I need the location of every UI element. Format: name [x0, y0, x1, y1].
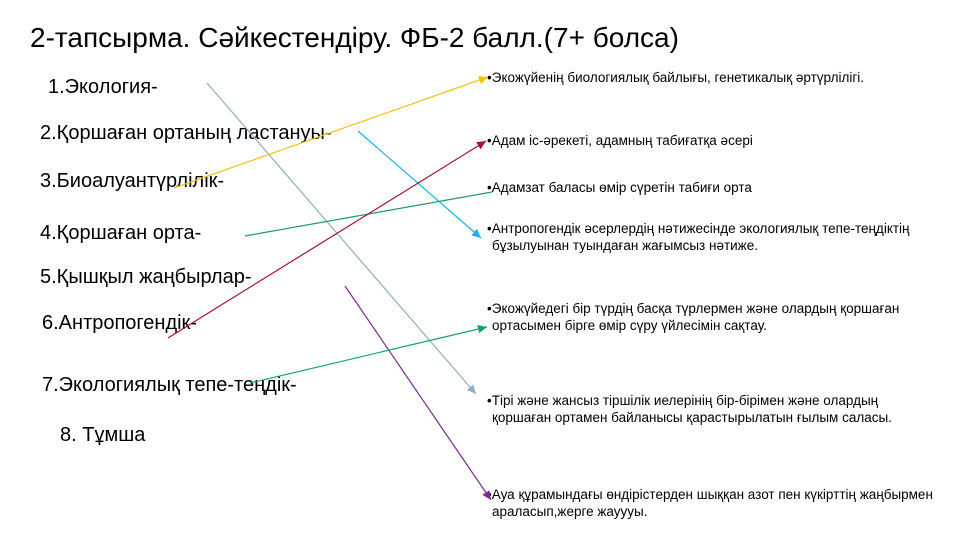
term-item-2[interactable]: 2.Қоршаған ортаның ластануы- [40, 122, 332, 144]
right-definitions-column: •Экожүйенің биологиялық байлығы, генетик… [487, 0, 957, 540]
definition-item-E[interactable]: •Экожүйедегі бір түрдің басқа түрлермен … [487, 301, 940, 335]
term-item-6[interactable]: 6.Антропогендік- [42, 312, 197, 334]
definition-text: Экожүйенің биологиялық байлығы, генетика… [492, 70, 864, 85]
definition-text: Адамзат баласы өмір сүретін табиғи орта [492, 180, 752, 195]
definition-text: Тірі және жансыз тіршілік иелерінің бір-… [492, 393, 892, 425]
term-item-4[interactable]: 4.Қоршаған орта- [40, 222, 201, 244]
connector-7-to-E-arrowhead-icon [477, 325, 487, 333]
definition-text: Адам іс-әрекеті, адамның табиғатқа әсері [492, 133, 753, 148]
connector-6-to-B-arrowhead-icon [476, 141, 486, 149]
definition-item-F[interactable]: •Тірі және жансыз тіршілік иелерінің бір… [487, 393, 940, 427]
definition-item-B[interactable]: •Адам іс-әрекеті, адамның табиғатқа әсер… [487, 133, 940, 150]
term-item-5[interactable]: 5.Қышқыл жаңбырлар- [40, 266, 252, 288]
slide-canvas: 2-тапсырма. Сәйкестендіру. ФБ-2 балл.(7+… [0, 0, 960, 540]
definition-text: Антропогендік әсерлердің нәтижесінде эко… [492, 221, 910, 253]
definition-item-D[interactable]: •Антропогендік әсерлердің нәтижесінде эк… [487, 221, 940, 255]
definition-text: Ауа құрамындағы өндірістерден шыққан азо… [492, 487, 933, 519]
definition-text: Экожүйедегі бір түрдің басқа түрлермен ж… [492, 301, 900, 333]
definition-item-A[interactable]: •Экожүйенің биологиялық байлығы, генетик… [487, 70, 940, 87]
definition-item-C[interactable]: •Адамзат баласы өмір сүретін табиғи орта [487, 180, 940, 197]
connector-2-to-D-arrowhead-icon [471, 229, 481, 238]
left-terms-column: 1.Экология-2.Қоршаған ортаның ластануы-3… [0, 0, 470, 540]
term-item-3[interactable]: 3.Биоалуантүрлілік- [40, 170, 224, 192]
term-item-1[interactable]: 1.Экология- [48, 76, 158, 98]
term-item-8[interactable]: 8. Тұмша [60, 424, 145, 446]
definition-item-G[interactable]: •Ауа құрамындағы өндірістерден шыққан аз… [487, 487, 940, 521]
term-item-7[interactable]: 7.Экологиялық тепе-теңдік- [42, 374, 297, 396]
